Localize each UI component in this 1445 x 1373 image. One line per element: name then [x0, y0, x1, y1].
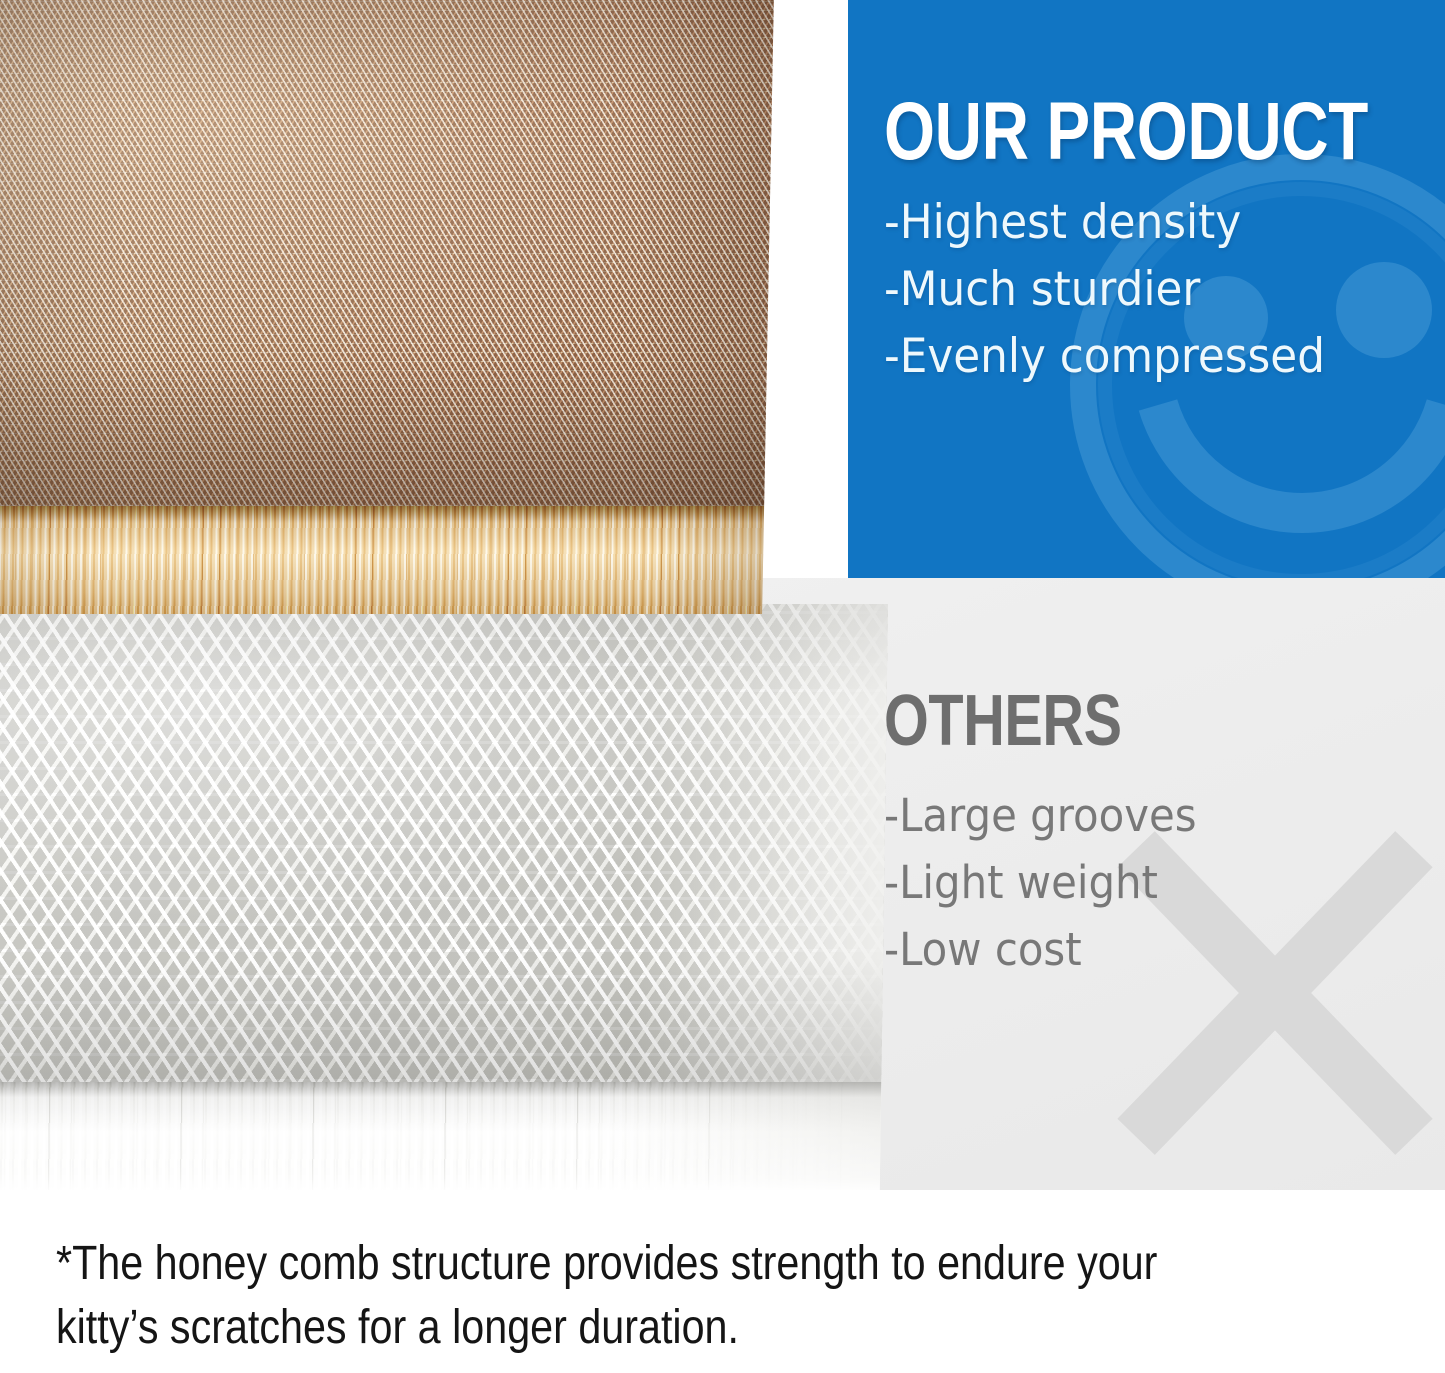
others-bullet-2: -Light weight — [884, 850, 1397, 917]
cardboard-tan-top-shading — [0, 0, 774, 506]
honeycomb-slab-white — [0, 604, 888, 1192]
our-product-text-block: OUR PRODUCT -Highest density -Much sturd… — [884, 96, 1436, 390]
honeycomb-white-edge-shading — [0, 1082, 881, 1192]
our-product-bullet-3: -Evenly compressed — [884, 324, 1397, 391]
honeycomb-white-top-shading — [0, 604, 888, 1082]
others-bullet-1: -Large grooves — [884, 783, 1397, 850]
our-product-bullet-1: -Highest density — [884, 190, 1397, 257]
product-comparison-infographic: OUR PRODUCT -Highest density -Much sturd… — [0, 0, 1445, 1373]
our-product-heading: OUR PRODUCT — [884, 96, 1326, 168]
footnote-caption: *The honey comb structure provides stren… — [56, 1232, 1217, 1360]
others-bullet-list: -Large grooves -Light weight -Low cost — [884, 783, 1436, 983]
our-product-bullet-list: -Highest density -Much sturdier -Evenly … — [884, 190, 1436, 390]
others-text-block: OTHERS -Large grooves -Light weight -Low… — [884, 690, 1436, 983]
cardboard-tan-edge-shading — [0, 506, 764, 614]
corrugated-cardboard-slab-tan — [0, 0, 774, 614]
our-product-bullet-2: -Much sturdier — [884, 257, 1397, 324]
others-bullet-3: -Low cost — [884, 917, 1397, 984]
others-heading: OTHERS — [884, 690, 1326, 753]
